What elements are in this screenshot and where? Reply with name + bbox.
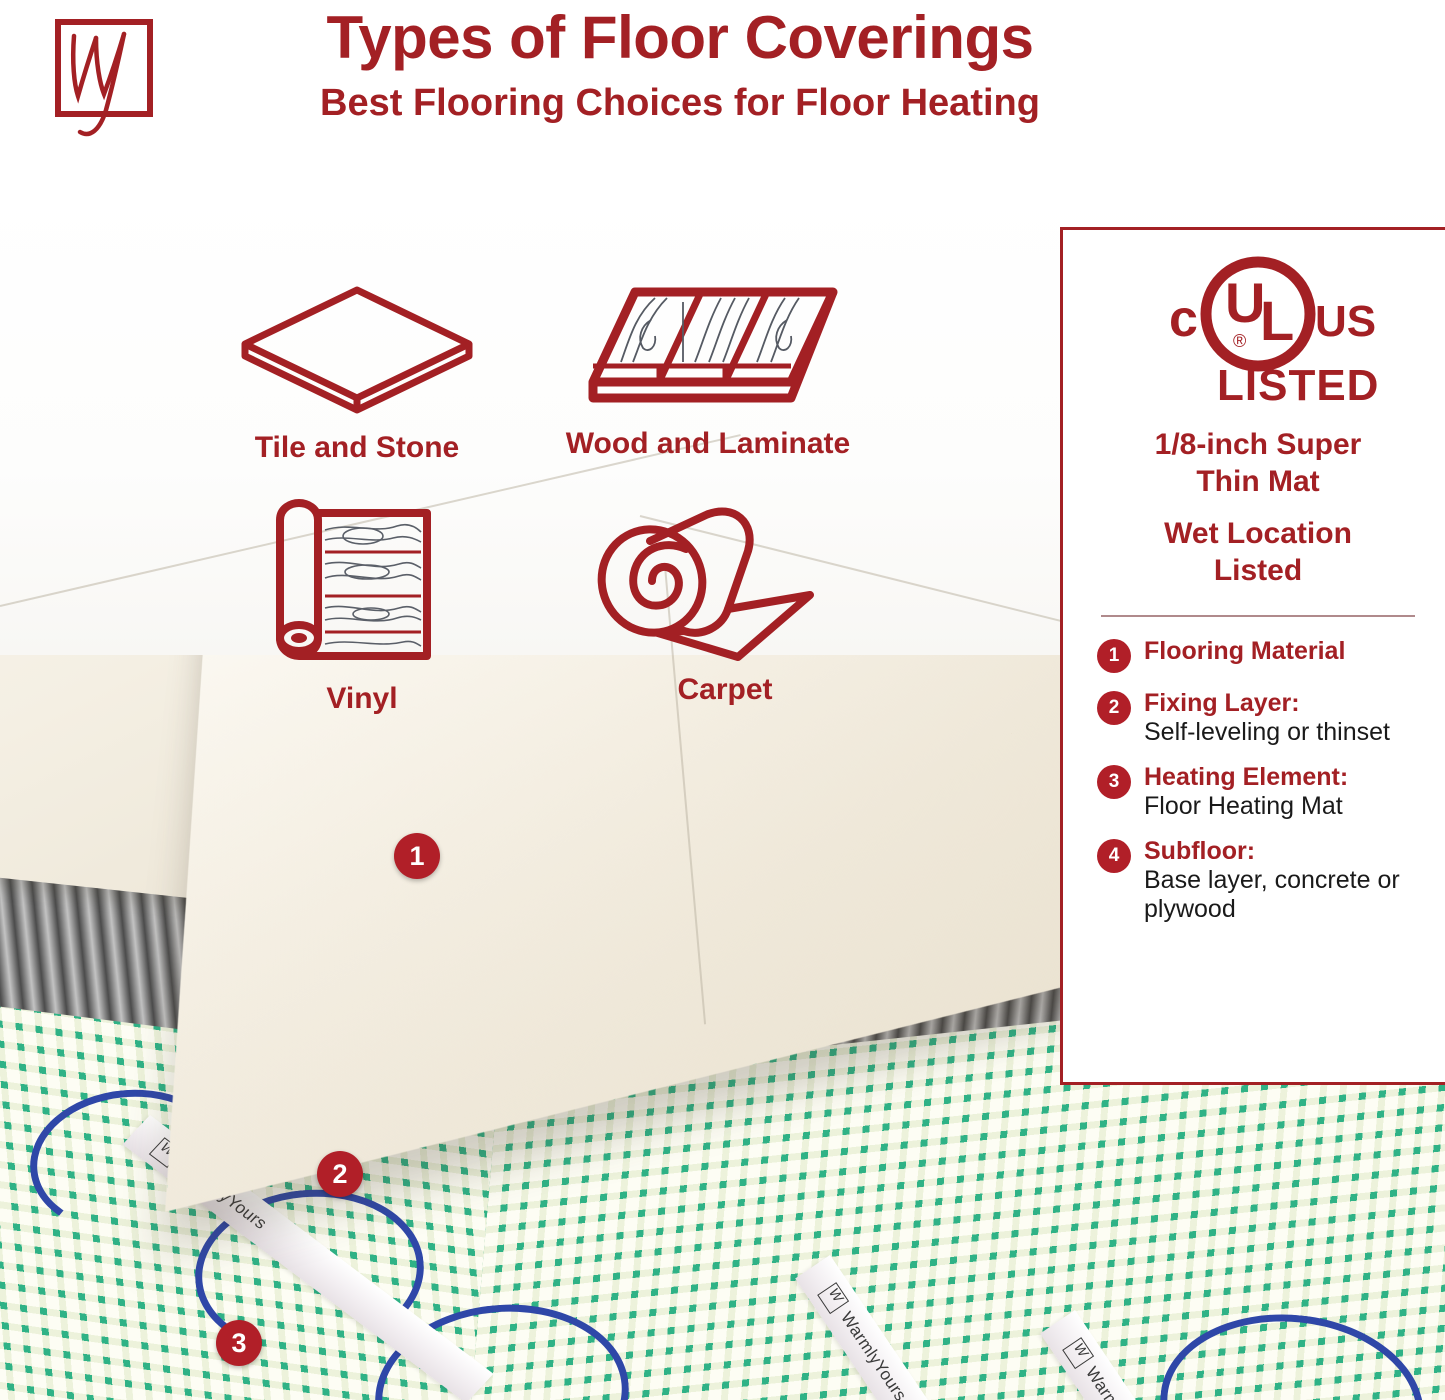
legend-item-3: 3 Heating Element: Floor Heating Mat (1097, 763, 1419, 821)
callout-number: 3 (231, 1328, 246, 1359)
ul-headline-line2: Thin Mat (1097, 464, 1419, 501)
ul-subheadline: Wet Location Listed (1097, 516, 1419, 589)
legend-title: Subfloor: (1144, 837, 1419, 866)
vinyl-roll-core (291, 633, 307, 643)
wood-plank-icon (563, 278, 863, 418)
warmlyyours-logo-icon (1063, 1337, 1095, 1369)
wy-monogram-icon: Wy (38, 14, 158, 144)
callout-number: 2 (332, 1159, 347, 1190)
floor-type-label: Vinyl (262, 682, 462, 716)
legend-item-1: 1 Flooring Material (1097, 637, 1419, 673)
ul-mark-registered: ® (1233, 331, 1246, 351)
warmlyyours-logo-icon (818, 1282, 850, 1314)
legend-badge: 2 (1097, 691, 1131, 725)
legend-title: Fixing Layer: (1144, 689, 1390, 718)
legend-number: 4 (1109, 845, 1120, 867)
carpet-roll-icon (588, 505, 863, 670)
legend-desc: Self-leveling or thinset (1144, 718, 1390, 747)
floor-type-label: Wood and Laminate (548, 427, 868, 461)
legend-desc: Floor Heating Mat (1144, 792, 1348, 821)
floor-type-tile-and-stone[interactable]: Tile and Stone (237, 282, 477, 465)
ul-headline: 1/8-inch Super Thin Mat (1097, 427, 1419, 500)
page-subtitle: Best Flooring Choices for Floor Heating (180, 83, 1180, 125)
legend-number: 1 (1109, 645, 1120, 667)
infographic-page: WarmlyYours WarmlyYours WarmlyYours Warm… (0, 0, 1445, 1400)
warmlyyours-logo[interactable]: Wy (38, 14, 158, 144)
photo-callout-1: 1 (394, 833, 440, 879)
photo-callout-2: 2 (317, 1151, 363, 1197)
wy-monogram-letters: Wy (38, 14, 61, 18)
legend-number: 2 (1109, 697, 1120, 719)
tile-slab-icon (237, 282, 477, 422)
ul-listing-panel: c U L ® US LISTED 1/8-inch Super Thin Ma… (1060, 227, 1445, 1085)
page-title: Types of Floor Coverings (180, 6, 1180, 69)
legend-item-2: 2 Fixing Layer: Self-leveling or thinset (1097, 689, 1419, 747)
ul-mark-us: US (1315, 297, 1376, 346)
ul-mark-c: c (1169, 290, 1198, 348)
legend-desc: Base layer, concrete or plywood (1144, 866, 1419, 924)
ul-headline-line1: 1/8-inch Super (1097, 427, 1419, 464)
ul-listed-mark: c U L ® US LISTED (1097, 254, 1419, 409)
legend-item-4: 4 Subfloor: Base layer, concrete or plyw… (1097, 837, 1419, 924)
header: Wy Types of Floor Coverings Best Floorin… (0, 0, 1445, 200)
title-block: Types of Floor Coverings Best Flooring C… (180, 6, 1180, 125)
floor-type-carpet[interactable]: Carpet (580, 505, 870, 707)
ul-mark-listed: LISTED (1217, 361, 1379, 409)
legend-title: Heating Element: (1144, 763, 1348, 792)
ul-sub-line1: Wet Location (1097, 516, 1419, 553)
floor-type-vinyl[interactable]: Vinyl (262, 498, 462, 716)
legend-badge: 4 (1097, 839, 1131, 873)
legend-badge: 1 (1097, 639, 1131, 673)
vinyl-roll-icon (267, 498, 457, 673)
callout-number: 1 (409, 841, 424, 872)
legend-title: Flooring Material (1144, 637, 1345, 666)
cul-us-listed-icon: c U L ® US LISTED (1133, 254, 1383, 409)
legend-number: 3 (1109, 771, 1120, 793)
photo-callout-3: 3 (216, 1320, 262, 1366)
ul-mark-l: L (1260, 289, 1294, 352)
floor-type-label: Tile and Stone (237, 431, 477, 465)
ul-sub-line2: Listed (1097, 553, 1419, 590)
legend-badge: 3 (1097, 765, 1131, 799)
floor-type-label: Carpet (580, 673, 870, 707)
panel-divider (1101, 615, 1415, 617)
floor-type-wood-and-laminate[interactable]: Wood and Laminate (548, 278, 868, 461)
